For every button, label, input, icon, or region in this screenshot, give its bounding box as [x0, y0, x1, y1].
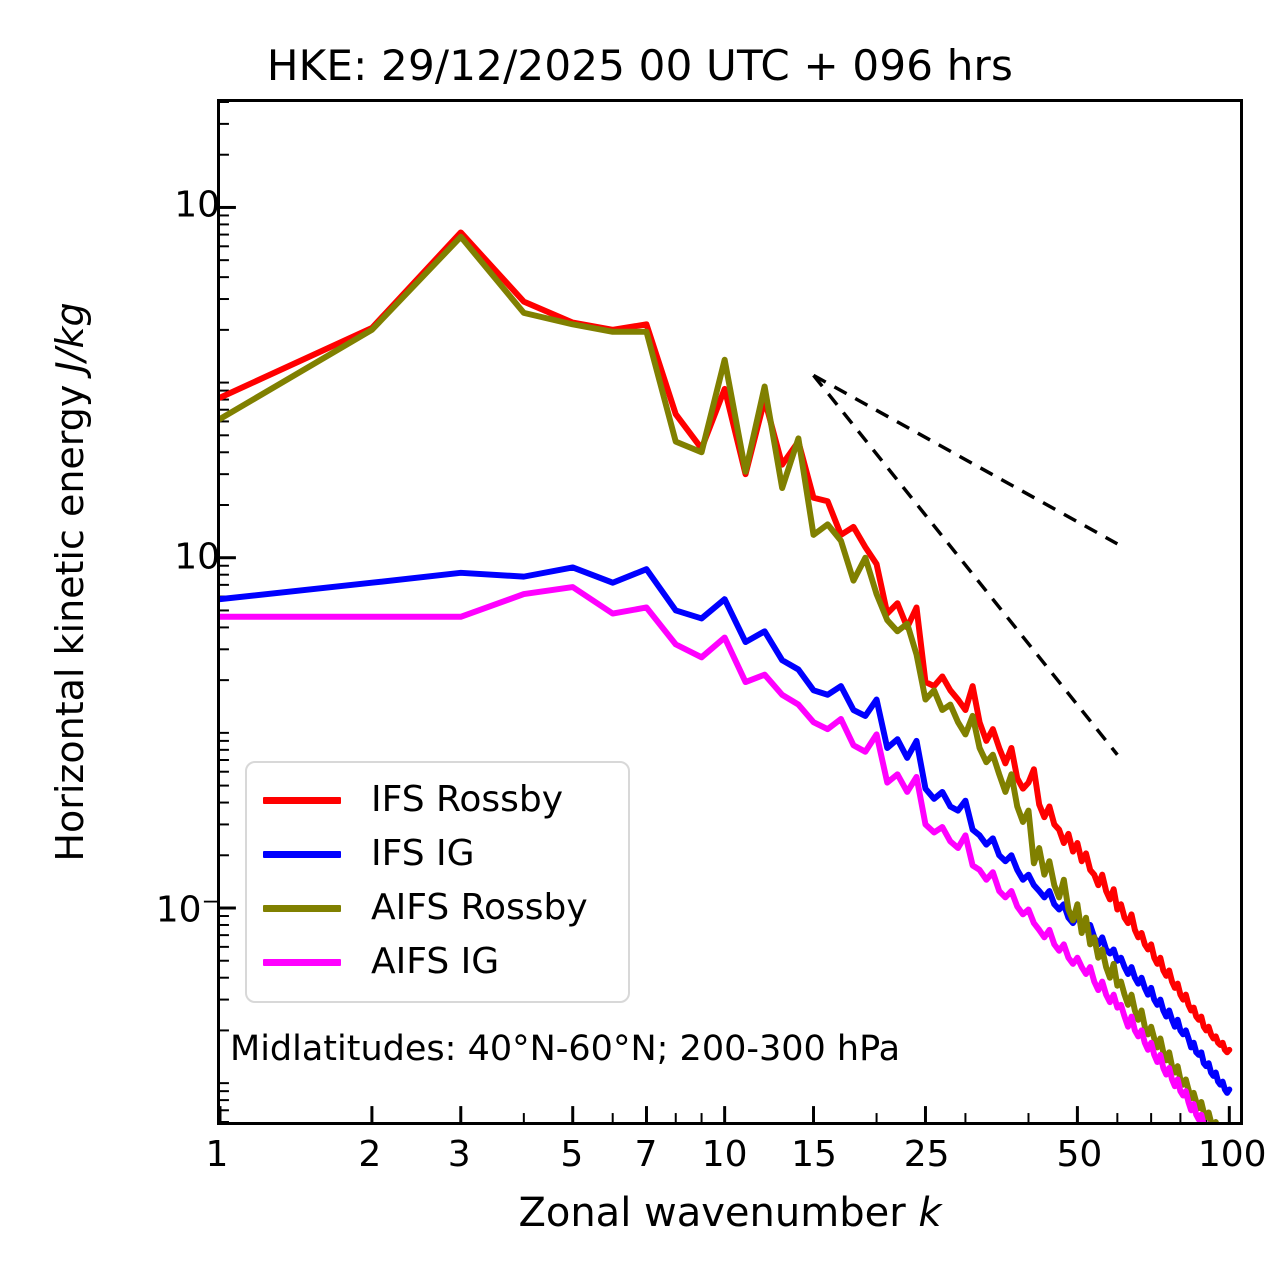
y-axis-label: Horizontal kinetic energy J/kg — [48, 82, 92, 1082]
y-axis-label-units: J/kg — [48, 302, 92, 372]
x-tick-label: 3 — [448, 1134, 471, 1175]
legend-item[interactable]: IFS IG — [247, 827, 628, 881]
legend-color-swatch — [263, 905, 341, 912]
x-axis-label-symbol: k — [918, 1190, 941, 1236]
legend[interactable]: IFS RossbyIFS IGAIFS RossbyAIFS IG — [245, 761, 630, 1003]
legend-color-swatch — [263, 797, 341, 804]
legend-label: AIFS Rossby — [371, 890, 588, 926]
x-tick-label: 15 — [791, 1134, 837, 1175]
legend-item[interactable]: AIFS IG — [247, 935, 628, 989]
legend-color-swatch — [263, 851, 341, 858]
region-annotation: Midlatitudes: 40°N-60°N; 200-300 hPa — [230, 1029, 900, 1069]
x-tick-label: 10 — [702, 1134, 748, 1175]
y-axis-label-text: Horizontal kinetic energy — [48, 373, 92, 862]
chart-title: HKE: 29/12/2025 00 UTC + 096 hrs — [0, 42, 1280, 90]
x-tick-label: 25 — [904, 1134, 950, 1175]
legend-item[interactable]: IFS Rossby — [247, 773, 628, 827]
legend-label: IFS Rossby — [371, 782, 563, 818]
x-tick-label: 50 — [1057, 1134, 1103, 1175]
legend-color-swatch — [263, 959, 341, 966]
x-tick-label: 7 — [635, 1134, 658, 1175]
x-tick-label: 5 — [560, 1134, 583, 1175]
legend-label: IFS IG — [371, 836, 475, 872]
x-tick-label: 2 — [358, 1134, 381, 1175]
x-tick-label: 1 — [206, 1134, 229, 1175]
x-tick-label: 100 — [1198, 1134, 1267, 1175]
legend-item[interactable]: AIFS Rossby — [247, 881, 628, 935]
figure-canvas: HKE: 29/12/2025 00 UTC + 096 hrs Horizon… — [0, 0, 1280, 1288]
x-axis-label-text: Zonal wavenumber — [518, 1190, 918, 1236]
legend-label: AIFS IG — [371, 944, 499, 980]
x-axis-label: Zonal wavenumber k — [217, 1190, 1243, 1236]
